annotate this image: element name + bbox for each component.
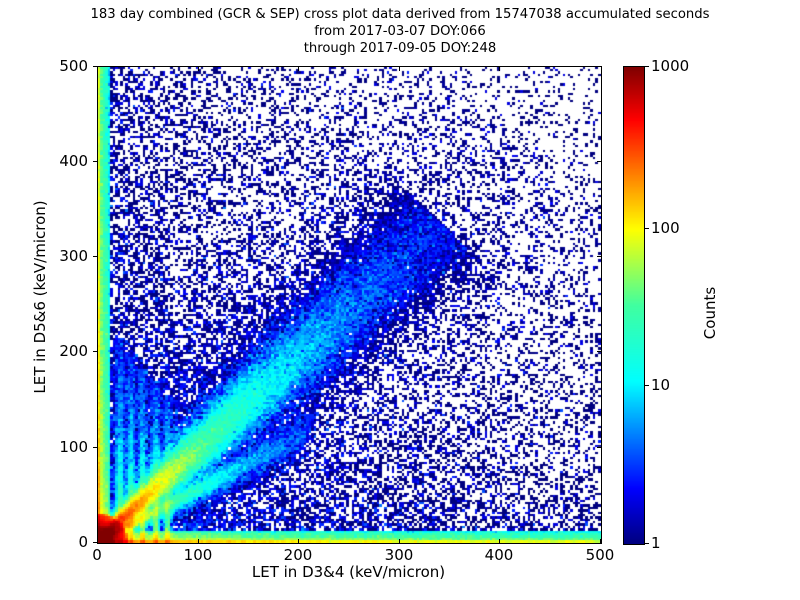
x-ticklabel-100: 100 [184, 546, 213, 564]
y-axis-label: LET in D5&6 (keV/micron) [31, 197, 49, 397]
colorbar-label: Counts [701, 213, 719, 413]
y-tick-200 [93, 351, 97, 352]
y-tick-100 [93, 447, 97, 448]
colorbar-tick-1000 [645, 66, 649, 67]
y-ticklabel-500: 500 [0, 57, 88, 75]
x-tick-top-400 [499, 67, 500, 71]
y-tick-right-200 [597, 351, 601, 352]
colorbar-tick-1 [645, 543, 649, 544]
y-ticklabel-400: 400 [0, 152, 88, 170]
x-ticklabel-400: 400 [485, 546, 514, 564]
title-line-2: from 2017-03-07 DOY:066 [0, 23, 800, 40]
x-ticklabel-500: 500 [586, 546, 615, 564]
x-tick-top-300 [399, 67, 400, 71]
y-tick-400 [93, 161, 97, 162]
colorbar-ticklabel-1000: 1000 [651, 57, 689, 75]
title-line-1: 183 day combined (GCR & SEP) cross plot … [0, 6, 800, 23]
x-tick-100 [198, 539, 199, 543]
y-ticklabel-100: 100 [0, 438, 88, 456]
y-tick-300 [93, 256, 97, 257]
colorbar-ticklabel-100: 100 [651, 219, 680, 237]
colorbar-gradient [624, 67, 644, 544]
x-ticklabel-300: 300 [385, 546, 414, 564]
y-tick-0 [93, 542, 97, 543]
x-tick-500 [600, 539, 601, 543]
x-tick-200 [298, 539, 299, 543]
y-tick-right-300 [597, 256, 601, 257]
colorbar-tick-100 [645, 228, 649, 229]
x-tick-400 [499, 539, 500, 543]
x-tick-300 [399, 539, 400, 543]
y-ticklabel-0: 0 [0, 533, 88, 551]
colorbar [623, 66, 645, 545]
y-tick-right-400 [597, 161, 601, 162]
x-tick-top-200 [298, 67, 299, 71]
x-ticklabel-200: 200 [284, 546, 313, 564]
figure-canvas: 183 day combined (GCR & SEP) cross plot … [0, 0, 800, 600]
title-line-3: through 2017-09-05 DOY:248 [0, 40, 800, 57]
x-tick-top-100 [198, 67, 199, 71]
plot-axes [97, 66, 602, 544]
density-scatter-plot [98, 67, 601, 543]
x-tick-0 [97, 539, 98, 543]
colorbar-ticklabel-10: 10 [651, 376, 670, 394]
x-tick-top-0 [97, 67, 98, 71]
plot-title: 183 day combined (GCR & SEP) cross plot … [0, 6, 800, 57]
x-ticklabel-0: 0 [92, 546, 102, 564]
x-axis-label: LET in D3&4 (keV/micron) [0, 563, 697, 581]
y-tick-500 [93, 66, 97, 67]
colorbar-tick-10 [645, 385, 649, 386]
colorbar-ticklabel-1: 1 [651, 534, 661, 552]
y-tick-right-100 [597, 447, 601, 448]
